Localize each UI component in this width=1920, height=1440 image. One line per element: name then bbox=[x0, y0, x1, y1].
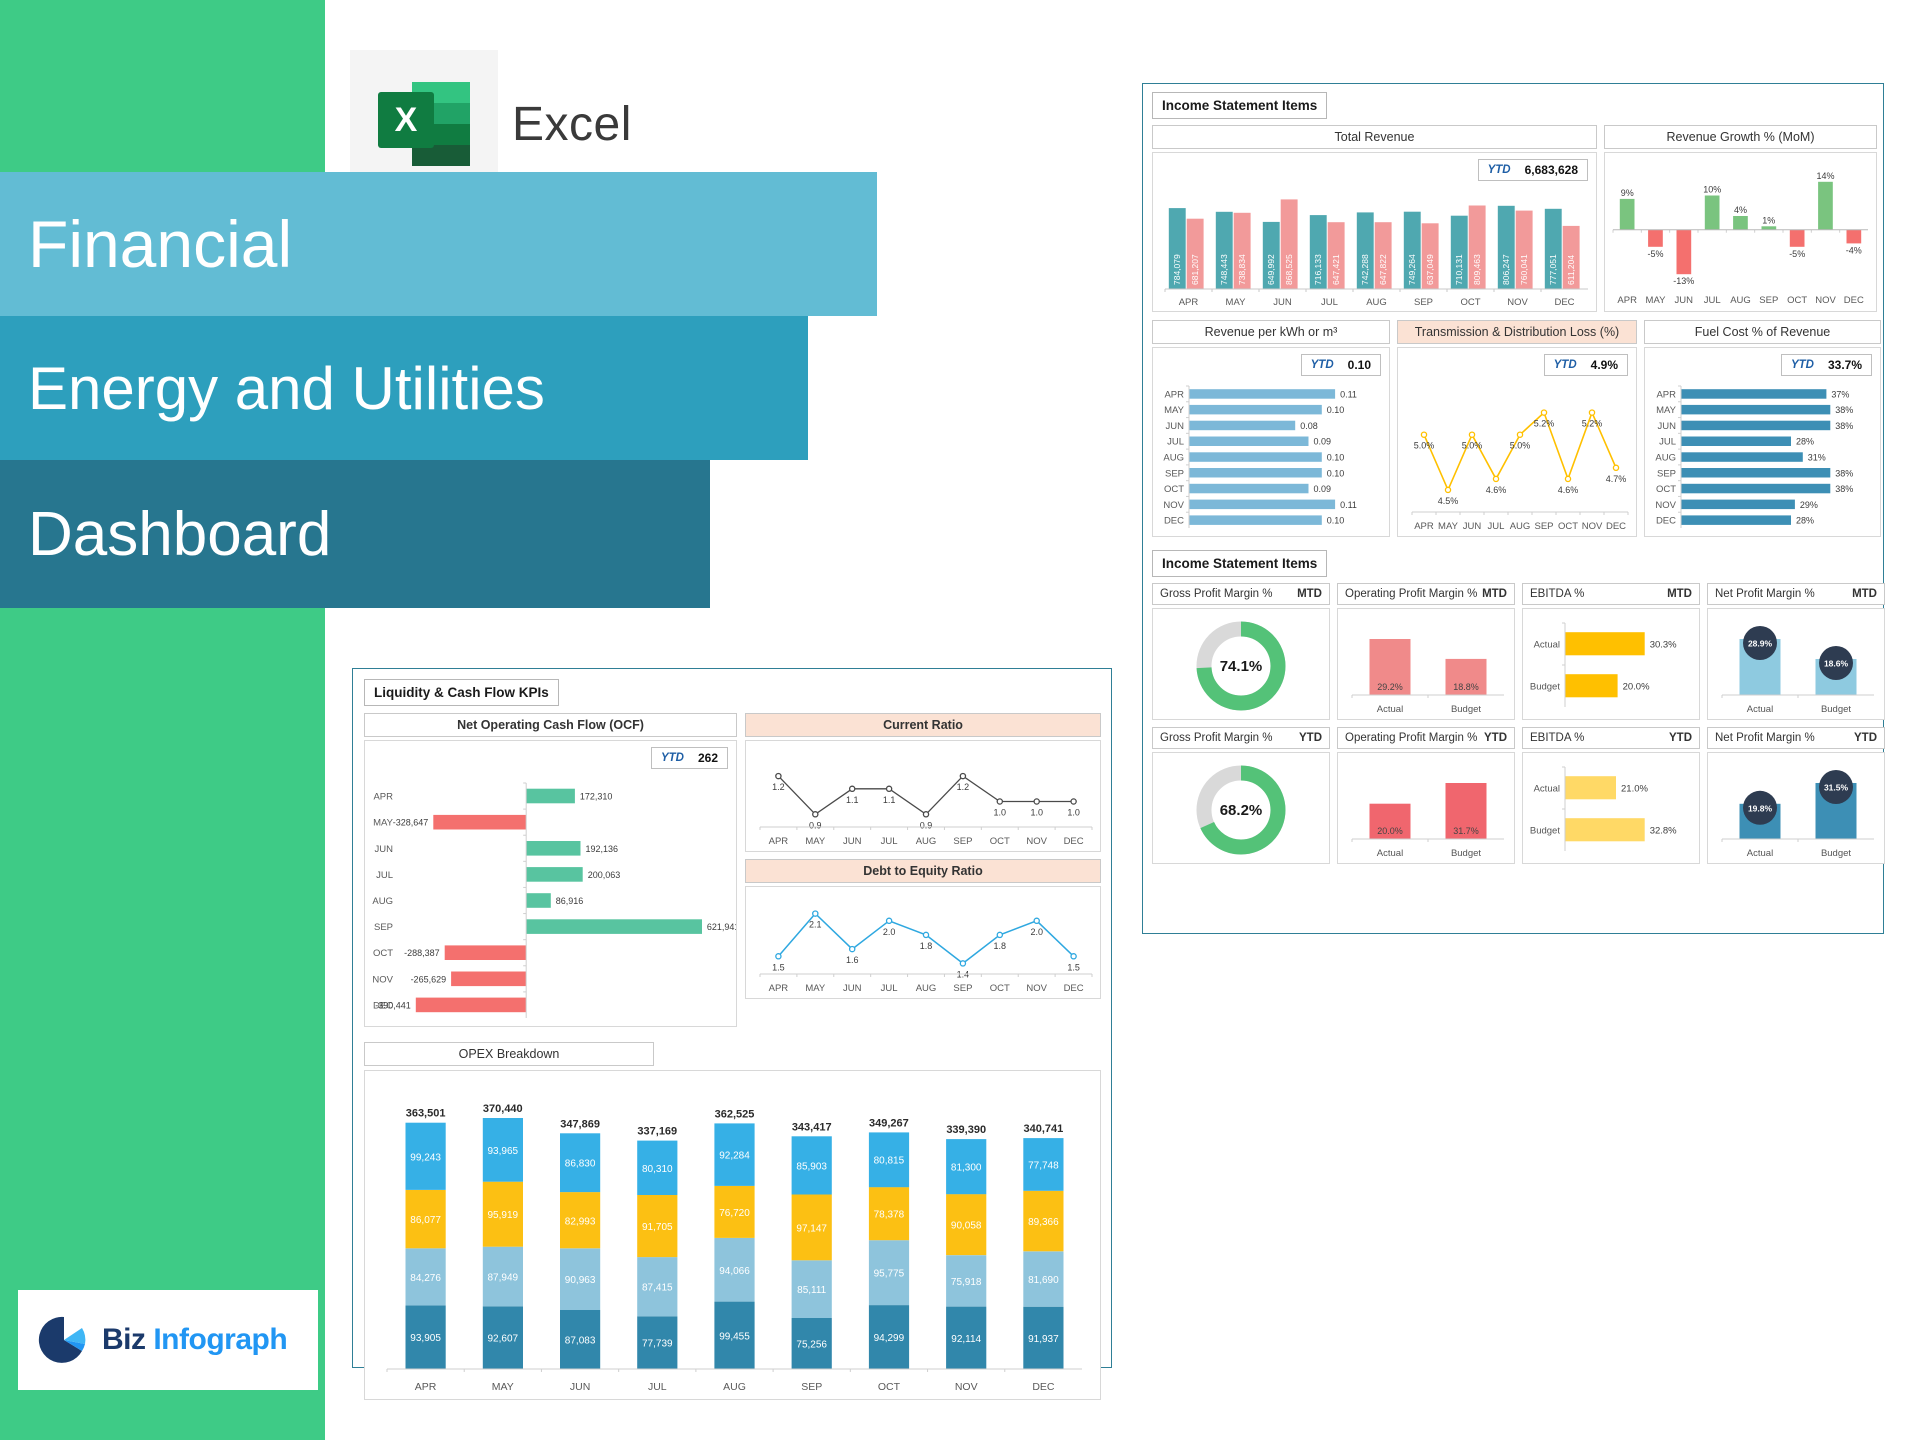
svg-text:DEC: DEC bbox=[1164, 516, 1184, 527]
svg-text:340,741: 340,741 bbox=[1024, 1123, 1064, 1135]
kpi-period: YTD bbox=[1669, 732, 1692, 744]
kpi-title: Gross Profit Margin % bbox=[1160, 732, 1272, 744]
svg-text:85,111: 85,111 bbox=[797, 1285, 827, 1296]
svg-text:MAY: MAY bbox=[1226, 297, 1247, 308]
svg-text:JUN: JUN bbox=[1658, 421, 1677, 432]
svg-text:0.10: 0.10 bbox=[1327, 516, 1345, 526]
kpi-chart: Actual30.3%Budget20.0% bbox=[1523, 609, 1699, 719]
svg-text:1%: 1% bbox=[1762, 215, 1775, 225]
ytd-label: YTD bbox=[1554, 359, 1577, 371]
svg-text:1.2: 1.2 bbox=[957, 782, 970, 792]
svg-text:87,949: 87,949 bbox=[488, 1273, 519, 1284]
svg-text:-5%: -5% bbox=[1789, 249, 1805, 259]
kpi-card: EBITDA %MTDActual30.3%Budget20.0% bbox=[1522, 583, 1700, 720]
svg-text:91,937: 91,937 bbox=[1028, 1334, 1059, 1345]
svg-text:809,463: 809,463 bbox=[1472, 254, 1482, 285]
svg-text:-288,387: -288,387 bbox=[404, 948, 440, 958]
svg-text:APR: APR bbox=[1656, 389, 1676, 400]
svg-text:92,607: 92,607 bbox=[488, 1334, 519, 1345]
kpi-card-body: 29.2%Actual18.8%Budget bbox=[1337, 608, 1515, 720]
svg-text:APR: APR bbox=[769, 983, 789, 994]
svg-text:75,918: 75,918 bbox=[951, 1277, 982, 1288]
kpi-card: Net Profit Margin %YTD19.8%Actual31.5%Bu… bbox=[1707, 727, 1885, 864]
svg-text:0.9: 0.9 bbox=[920, 820, 933, 830]
svg-text:77,739: 77,739 bbox=[642, 1339, 673, 1350]
svg-text:94,066: 94,066 bbox=[719, 1266, 750, 1277]
svg-text:4.6%: 4.6% bbox=[1486, 485, 1507, 495]
ytd-badge-fuel-cost: YTD 33.7% bbox=[1781, 354, 1872, 376]
svg-text:97,147: 97,147 bbox=[796, 1223, 827, 1234]
liquidity-cashflow-dashboard: Liquidity & Cash Flow KPIs Net Operating… bbox=[352, 668, 1112, 1368]
svg-text:681,207: 681,207 bbox=[1190, 254, 1200, 285]
svg-text:Budget: Budget bbox=[1530, 681, 1560, 692]
svg-text:1.6: 1.6 bbox=[846, 955, 859, 965]
svg-text:0.10: 0.10 bbox=[1327, 453, 1345, 463]
svg-text:0.09: 0.09 bbox=[1314, 484, 1332, 494]
svg-text:86,916: 86,916 bbox=[556, 896, 584, 906]
svg-text:APR: APR bbox=[1179, 297, 1199, 308]
svg-text:92,284: 92,284 bbox=[719, 1151, 750, 1162]
panel-ocf: YTD 262 APR172,310MAY-328,647JUN192,136J… bbox=[364, 740, 737, 1027]
kpi-chart: 20.0%Actual31.7%Budget bbox=[1338, 753, 1514, 863]
svg-text:1.5: 1.5 bbox=[772, 962, 785, 972]
svg-text:81,300: 81,300 bbox=[951, 1163, 982, 1174]
svg-text:2.0: 2.0 bbox=[1030, 927, 1043, 937]
svg-text:611,204: 611,204 bbox=[1566, 255, 1576, 285]
svg-text:18.6%: 18.6% bbox=[1824, 659, 1849, 669]
svg-text:1.0: 1.0 bbox=[994, 808, 1007, 818]
kpi-card-body: 19.8%Actual31.5%Budget bbox=[1707, 752, 1885, 864]
svg-text:749,264: 749,264 bbox=[1407, 254, 1417, 285]
svg-text:9%: 9% bbox=[1621, 188, 1634, 198]
kpi-chart: 74.1% bbox=[1153, 609, 1329, 719]
svg-text:OCT: OCT bbox=[990, 983, 1010, 994]
kpi-card-header: Gross Profit Margin %YTD bbox=[1152, 727, 1330, 749]
ytd-badge-total-revenue: YTD 6,683,628 bbox=[1478, 159, 1588, 181]
svg-text:DEC: DEC bbox=[1032, 1381, 1055, 1393]
svg-text:99,455: 99,455 bbox=[719, 1331, 750, 1342]
svg-text:JUL: JUL bbox=[1659, 437, 1676, 448]
svg-text:716,133: 716,133 bbox=[1313, 254, 1323, 285]
svg-text:JUL: JUL bbox=[1321, 297, 1338, 308]
title-text-energy: Energy and Utilities bbox=[0, 354, 545, 423]
svg-text:1.2: 1.2 bbox=[772, 782, 785, 792]
svg-text:28.9%: 28.9% bbox=[1748, 639, 1773, 649]
svg-text:MAY: MAY bbox=[1646, 295, 1667, 306]
svg-text:MAY: MAY bbox=[492, 1381, 514, 1393]
title-bar-line1: Financial bbox=[0, 172, 877, 316]
svg-text:0.11: 0.11 bbox=[1340, 389, 1357, 399]
svg-text:31.7%: 31.7% bbox=[1453, 826, 1479, 836]
svg-text:5.0%: 5.0% bbox=[1414, 441, 1435, 451]
chart-ocf: APR172,310MAY-328,647JUN192,136JUL200,06… bbox=[365, 741, 736, 1026]
kpi-title: Operating Profit Margin % bbox=[1345, 588, 1477, 600]
chart-debt-equity: 1.52.11.62.01.81.41.82.01.5APRMAYJUNJULA… bbox=[746, 887, 1100, 998]
svg-text:868,525: 868,525 bbox=[1284, 254, 1294, 285]
title-bar-line3: Dashboard bbox=[0, 460, 710, 608]
ytd-badge-revenue-per-kwh: YTD 0.10 bbox=[1301, 354, 1381, 376]
svg-text:APR: APR bbox=[373, 792, 393, 803]
panel-revenue-growth: 9%APR-5%MAY-13%JUN10%JUL4%AUG1%SEP-5%OCT… bbox=[1604, 152, 1877, 312]
kpi-card-body: 28.9%Actual18.6%Budget bbox=[1707, 608, 1885, 720]
title-text-financial: Financial bbox=[0, 206, 292, 282]
panel-title-revenue-growth: Revenue Growth % (MoM) bbox=[1604, 125, 1877, 149]
svg-text:31.5%: 31.5% bbox=[1824, 783, 1849, 793]
ytd-value: 262 bbox=[698, 751, 718, 765]
kpi-card: Operating Profit Margin %YTD20.0%Actual3… bbox=[1337, 727, 1515, 864]
svg-text:92,114: 92,114 bbox=[951, 1334, 981, 1345]
svg-text:AUG: AUG bbox=[372, 896, 393, 907]
svg-text:363,501: 363,501 bbox=[406, 1108, 446, 1120]
svg-text:28%: 28% bbox=[1796, 437, 1814, 447]
svg-text:90,963: 90,963 bbox=[565, 1275, 596, 1286]
svg-text:75,256: 75,256 bbox=[796, 1340, 827, 1351]
svg-text:84,276: 84,276 bbox=[410, 1273, 441, 1284]
panel-title-revenue-per-kwh: Revenue per kWh or m³ bbox=[1152, 320, 1390, 344]
svg-text:NOV: NOV bbox=[1507, 297, 1528, 308]
svg-text:0.9: 0.9 bbox=[809, 820, 822, 830]
svg-text:AUG: AUG bbox=[723, 1381, 746, 1393]
svg-text:649,992: 649,992 bbox=[1266, 254, 1276, 285]
svg-text:NOV: NOV bbox=[1815, 295, 1836, 306]
svg-text:AUG: AUG bbox=[916, 836, 937, 847]
svg-text:OCT: OCT bbox=[373, 948, 393, 959]
svg-text:Actual: Actual bbox=[1534, 783, 1560, 794]
svg-text:5.0%: 5.0% bbox=[1510, 441, 1531, 451]
svg-text:NOV: NOV bbox=[1163, 500, 1184, 511]
svg-text:SEP: SEP bbox=[1414, 297, 1433, 308]
svg-text:99,243: 99,243 bbox=[410, 1152, 441, 1163]
panel-td-loss: YTD 4.9% 5.0%4.5%5.0%4.6%5.0%5.2%4.6%5.2… bbox=[1397, 347, 1637, 537]
svg-text:32.8%: 32.8% bbox=[1650, 825, 1677, 836]
svg-text:DEC: DEC bbox=[1064, 983, 1084, 994]
svg-text:20.0%: 20.0% bbox=[1623, 681, 1650, 692]
kpi-card-header: Operating Profit Margin %MTD bbox=[1337, 583, 1515, 605]
svg-text:MAY: MAY bbox=[1656, 405, 1677, 416]
svg-text:89,366: 89,366 bbox=[1028, 1217, 1059, 1228]
svg-text:1.1: 1.1 bbox=[846, 795, 859, 805]
kpi-card-header: Operating Profit Margin %YTD bbox=[1337, 727, 1515, 749]
ytd-label: YTD bbox=[1311, 359, 1334, 371]
svg-text:APR: APR bbox=[415, 1381, 437, 1393]
excel-x-letter: X bbox=[378, 92, 434, 148]
svg-text:NOV: NOV bbox=[955, 1381, 978, 1393]
svg-text:JUL: JUL bbox=[648, 1381, 667, 1393]
svg-text:-4%: -4% bbox=[1846, 245, 1862, 255]
kpi-title: Net Profit Margin % bbox=[1715, 588, 1815, 600]
svg-text:SEP: SEP bbox=[1534, 521, 1553, 532]
svg-text:OCT: OCT bbox=[990, 836, 1010, 847]
svg-text:Budget: Budget bbox=[1451, 704, 1481, 715]
svg-text:APR: APR bbox=[769, 836, 789, 847]
svg-text:21.0%: 21.0% bbox=[1621, 783, 1648, 794]
svg-text:28%: 28% bbox=[1796, 516, 1814, 526]
svg-text:349,267: 349,267 bbox=[869, 1117, 909, 1129]
kpi-card-body: Actual21.0%Budget32.8% bbox=[1522, 752, 1700, 864]
svg-text:OCT: OCT bbox=[1787, 295, 1807, 306]
svg-text:78,378: 78,378 bbox=[874, 1210, 905, 1221]
excel-icon: X bbox=[378, 78, 470, 170]
ytd-value: 33.7% bbox=[1828, 358, 1862, 372]
kpi-period: YTD bbox=[1299, 732, 1322, 744]
svg-text:4.5%: 4.5% bbox=[1438, 496, 1459, 506]
svg-text:647,421: 647,421 bbox=[1331, 254, 1341, 285]
svg-text:18.8%: 18.8% bbox=[1453, 682, 1479, 692]
chart-fuel-cost: APR37%MAY38%JUN38%JUL28%AUG31%SEP38%OCT3… bbox=[1645, 348, 1880, 536]
svg-text:JUL: JUL bbox=[881, 836, 898, 847]
svg-text:90,058: 90,058 bbox=[951, 1221, 982, 1232]
title-text-dashboard: Dashboard bbox=[0, 499, 331, 570]
chart-revenue-per-kwh: APR0.11MAY0.10JUN0.08JUL0.09AUG0.10SEP0.… bbox=[1153, 348, 1389, 536]
svg-text:4.7%: 4.7% bbox=[1606, 474, 1627, 484]
svg-text:Budget: Budget bbox=[1821, 848, 1851, 859]
svg-text:95,919: 95,919 bbox=[488, 1210, 519, 1221]
svg-text:38%: 38% bbox=[1835, 421, 1853, 431]
panel-total-revenue: YTD 6,683,628 784,079681,207APR748,44373… bbox=[1152, 152, 1597, 312]
svg-text:30.3%: 30.3% bbox=[1650, 639, 1677, 650]
svg-text:JUN: JUN bbox=[1463, 521, 1482, 532]
svg-text:APR: APR bbox=[1164, 389, 1184, 400]
svg-text:JUN: JUN bbox=[375, 844, 394, 855]
svg-text:4%: 4% bbox=[1734, 205, 1747, 215]
svg-text:JUN: JUN bbox=[1675, 295, 1694, 306]
income-statement-dashboard: Income Statement Items Total Revenue YTD… bbox=[1142, 83, 1884, 934]
kpi-chart: Actual21.0%Budget32.8% bbox=[1523, 753, 1699, 863]
svg-text:19.8%: 19.8% bbox=[1748, 803, 1773, 813]
panel-debt-equity: 1.52.11.62.01.81.41.82.01.5APRMAYJUNJULA… bbox=[745, 886, 1101, 999]
svg-text:738,834: 738,834 bbox=[1237, 254, 1247, 285]
panel-current-ratio: 1.20.91.11.10.91.21.01.01.0APRMAYJUNJULA… bbox=[745, 740, 1101, 852]
svg-text:370,440: 370,440 bbox=[483, 1103, 523, 1115]
kpi-card-body: Actual30.3%Budget20.0% bbox=[1522, 608, 1700, 720]
biz-infograph-wordmark: Biz Infograph bbox=[102, 1323, 287, 1357]
svg-text:SEP: SEP bbox=[1657, 468, 1676, 479]
svg-text:OCT: OCT bbox=[878, 1381, 901, 1393]
svg-text:2.1: 2.1 bbox=[809, 920, 822, 930]
svg-text:NOV: NOV bbox=[1582, 521, 1603, 532]
svg-text:MAY: MAY bbox=[1164, 405, 1185, 416]
svg-text:77,748: 77,748 bbox=[1028, 1161, 1059, 1172]
svg-text:JUN: JUN bbox=[1166, 421, 1185, 432]
svg-text:93,905: 93,905 bbox=[410, 1333, 441, 1344]
chart-opex: 93,90584,27686,07799,243363,501APR92,607… bbox=[365, 1071, 1100, 1399]
svg-text:Actual: Actual bbox=[1534, 639, 1560, 650]
svg-text:0.11: 0.11 bbox=[1340, 500, 1357, 510]
svg-text:OCT: OCT bbox=[1656, 484, 1676, 495]
svg-text:AUG: AUG bbox=[1366, 297, 1387, 308]
svg-text:-265,629: -265,629 bbox=[411, 974, 447, 984]
svg-text:OCT: OCT bbox=[1164, 484, 1184, 495]
svg-text:DEC: DEC bbox=[1656, 516, 1676, 527]
svg-text:DEC: DEC bbox=[1554, 297, 1574, 308]
svg-text:AUG: AUG bbox=[1510, 521, 1531, 532]
ytd-value: 6,683,628 bbox=[1525, 163, 1578, 177]
svg-text:-328,647: -328,647 bbox=[393, 818, 429, 828]
ytd-label: YTD bbox=[1791, 359, 1814, 371]
panel-title-total-revenue: Total Revenue bbox=[1152, 125, 1597, 149]
kpi-card: Net Profit Margin %MTD28.9%Actual18.6%Bu… bbox=[1707, 583, 1885, 720]
svg-text:82,993: 82,993 bbox=[565, 1216, 596, 1227]
panel-title-opex: OPEX Breakdown bbox=[364, 1042, 654, 1066]
svg-text:37%: 37% bbox=[1831, 389, 1849, 399]
svg-text:NOV: NOV bbox=[1026, 983, 1047, 994]
kpi-title: Gross Profit Margin % bbox=[1160, 588, 1272, 600]
svg-text:SEP: SEP bbox=[1165, 468, 1184, 479]
kpi-title: EBITDA % bbox=[1530, 732, 1584, 744]
panel-title-debt-equity: Debt to Equity Ratio bbox=[745, 859, 1101, 883]
svg-text:SEP: SEP bbox=[374, 922, 393, 933]
svg-text:JUL: JUL bbox=[881, 983, 898, 994]
kpi-period: MTD bbox=[1297, 588, 1322, 600]
svg-text:JUL: JUL bbox=[1704, 295, 1721, 306]
svg-text:5.2%: 5.2% bbox=[1534, 419, 1555, 429]
svg-text:DEC: DEC bbox=[1606, 521, 1626, 532]
svg-text:38%: 38% bbox=[1835, 484, 1853, 494]
kpi-card-body: 20.0%Actual31.7%Budget bbox=[1337, 752, 1515, 864]
svg-text:5.2%: 5.2% bbox=[1582, 419, 1603, 429]
svg-text:1.0: 1.0 bbox=[1030, 808, 1043, 818]
pie-chart-icon bbox=[38, 1314, 90, 1366]
svg-text:0.08: 0.08 bbox=[1300, 421, 1318, 431]
svg-text:621,941: 621,941 bbox=[707, 922, 736, 932]
svg-text:1.8: 1.8 bbox=[994, 941, 1007, 951]
chart-td-loss: 5.0%4.5%5.0%4.6%5.0%5.2%4.6%5.2%4.7%APRM… bbox=[1398, 348, 1636, 536]
svg-text:Actual: Actual bbox=[1747, 704, 1773, 715]
svg-text:AUG: AUG bbox=[1655, 453, 1676, 464]
panel-title-current-ratio: Current Ratio bbox=[745, 713, 1101, 737]
svg-text:JUN: JUN bbox=[843, 983, 862, 994]
svg-text:JUN: JUN bbox=[1273, 297, 1292, 308]
kpi-period: MTD bbox=[1667, 588, 1692, 600]
panel-title-ocf: Net Operating Cash Flow (OCF) bbox=[364, 713, 737, 737]
chart-current-ratio: 1.20.91.11.10.91.21.01.01.0APRMAYJUNJULA… bbox=[746, 741, 1100, 851]
kpi-card-body: 68.2% bbox=[1152, 752, 1330, 864]
kpi-card-header: Net Profit Margin %MTD bbox=[1707, 583, 1885, 605]
svg-text:MAY: MAY bbox=[805, 836, 826, 847]
svg-text:87,415: 87,415 bbox=[642, 1283, 673, 1294]
svg-text:647,822: 647,822 bbox=[1378, 254, 1388, 285]
section-label-income-bottom: Income Statement Items bbox=[1152, 550, 1327, 577]
svg-text:MAY: MAY bbox=[805, 983, 826, 994]
svg-text:SEP: SEP bbox=[953, 983, 972, 994]
svg-text:0.10: 0.10 bbox=[1327, 468, 1345, 478]
svg-text:APR: APR bbox=[1617, 295, 1637, 306]
svg-text:AUG: AUG bbox=[916, 983, 937, 994]
svg-text:APR: APR bbox=[1414, 521, 1434, 532]
svg-text:Actual: Actual bbox=[1747, 848, 1773, 859]
svg-text:-390,441: -390,441 bbox=[375, 1000, 411, 1010]
logo-text-biz: Biz bbox=[102, 1323, 146, 1356]
svg-text:Actual: Actual bbox=[1377, 704, 1403, 715]
svg-text:DEC: DEC bbox=[1844, 295, 1864, 306]
svg-text:91,705: 91,705 bbox=[642, 1222, 673, 1233]
kpi-chart: 68.2% bbox=[1153, 753, 1329, 863]
svg-text:Actual: Actual bbox=[1377, 848, 1403, 859]
logo-text-infograph: Infograph bbox=[153, 1323, 287, 1356]
kpi-chart: 28.9%Actual18.6%Budget bbox=[1708, 609, 1884, 719]
svg-text:38%: 38% bbox=[1835, 468, 1853, 478]
svg-text:AUG: AUG bbox=[1163, 453, 1184, 464]
svg-text:JUN: JUN bbox=[570, 1381, 590, 1393]
svg-text:-13%: -13% bbox=[1673, 276, 1694, 286]
svg-text:Budget: Budget bbox=[1821, 704, 1851, 715]
svg-text:784,079: 784,079 bbox=[1172, 254, 1182, 285]
svg-text:637,049: 637,049 bbox=[1425, 254, 1435, 285]
svg-text:NOV: NOV bbox=[372, 974, 393, 985]
svg-text:AUG: AUG bbox=[1730, 295, 1751, 306]
svg-text:NOV: NOV bbox=[1655, 500, 1676, 511]
svg-text:806,247: 806,247 bbox=[1501, 254, 1511, 285]
svg-text:SEP: SEP bbox=[1759, 295, 1778, 306]
chart-revenue-growth: 9%APR-5%MAY-13%JUN10%JUL4%AUG1%SEP-5%OCT… bbox=[1605, 153, 1876, 311]
svg-text:339,390: 339,390 bbox=[946, 1124, 986, 1136]
svg-text:4.6%: 4.6% bbox=[1558, 485, 1579, 495]
kpi-period: MTD bbox=[1852, 588, 1877, 600]
panel-opex: 93,90584,27686,07799,243363,501APR92,607… bbox=[364, 1070, 1101, 1400]
title-bar-line2: Energy and Utilities bbox=[0, 316, 808, 460]
svg-text:74.1%: 74.1% bbox=[1220, 658, 1263, 675]
svg-text:80,815: 80,815 bbox=[874, 1156, 905, 1167]
svg-text:337,169: 337,169 bbox=[637, 1126, 677, 1138]
svg-text:86,077: 86,077 bbox=[410, 1215, 441, 1226]
svg-text:80,310: 80,310 bbox=[642, 1164, 673, 1175]
svg-text:347,869: 347,869 bbox=[560, 1118, 600, 1130]
svg-text:OCT: OCT bbox=[1558, 521, 1578, 532]
svg-text:29%: 29% bbox=[1800, 500, 1818, 510]
kpi-card: EBITDA %YTDActual21.0%Budget32.8% bbox=[1522, 727, 1700, 864]
svg-text:192,136: 192,136 bbox=[586, 844, 619, 854]
ytd-label: YTD bbox=[1488, 164, 1511, 176]
svg-text:JUL: JUL bbox=[1167, 437, 1184, 448]
section-label-income-top: Income Statement Items bbox=[1152, 92, 1327, 119]
svg-text:NOV: NOV bbox=[1026, 836, 1047, 847]
svg-text:JUL: JUL bbox=[376, 870, 393, 881]
svg-text:1.0: 1.0 bbox=[1067, 808, 1080, 818]
kpi-chart: 29.2%Actual18.8%Budget bbox=[1338, 609, 1514, 719]
svg-text:81,690: 81,690 bbox=[1028, 1275, 1059, 1286]
svg-text:10%: 10% bbox=[1703, 185, 1721, 195]
svg-text:85,903: 85,903 bbox=[796, 1161, 827, 1172]
kpi-title: EBITDA % bbox=[1530, 588, 1584, 600]
panel-title-td-loss: Transmission & Distribution Loss (%) bbox=[1397, 320, 1637, 344]
svg-text:86,830: 86,830 bbox=[565, 1159, 596, 1170]
svg-text:SEP: SEP bbox=[953, 836, 972, 847]
ytd-value: 4.9% bbox=[1591, 358, 1618, 372]
kpi-card: Gross Profit Margin %MTD74.1% bbox=[1152, 583, 1330, 720]
svg-text:1.5: 1.5 bbox=[1067, 962, 1080, 972]
kpi-card: Gross Profit Margin %YTD68.2% bbox=[1152, 727, 1330, 864]
kpi-card-header: EBITDA %YTD bbox=[1522, 727, 1700, 749]
kpi-title: Operating Profit Margin % bbox=[1345, 732, 1477, 744]
svg-text:29.2%: 29.2% bbox=[1377, 682, 1403, 692]
svg-text:343,417: 343,417 bbox=[792, 1121, 832, 1133]
ytd-label: YTD bbox=[661, 752, 684, 764]
svg-text:DEC: DEC bbox=[1064, 836, 1084, 847]
svg-text:68.2%: 68.2% bbox=[1220, 802, 1263, 819]
kpi-chart: 19.8%Actual31.5%Budget bbox=[1708, 753, 1884, 863]
ytd-badge-td-loss: YTD 4.9% bbox=[1544, 354, 1628, 376]
svg-text:2.0: 2.0 bbox=[883, 927, 896, 937]
kpi-card: Operating Profit Margin %MTD29.2%Actual1… bbox=[1337, 583, 1515, 720]
svg-text:MAY: MAY bbox=[1438, 521, 1459, 532]
svg-text:87,083: 87,083 bbox=[565, 1336, 596, 1347]
svg-text:172,310: 172,310 bbox=[580, 792, 613, 802]
svg-text:742,288: 742,288 bbox=[1360, 254, 1370, 285]
kpi-period: MTD bbox=[1482, 588, 1507, 600]
svg-text:Budget: Budget bbox=[1451, 848, 1481, 859]
svg-text:748,443: 748,443 bbox=[1219, 254, 1229, 285]
svg-text:38%: 38% bbox=[1835, 405, 1853, 415]
